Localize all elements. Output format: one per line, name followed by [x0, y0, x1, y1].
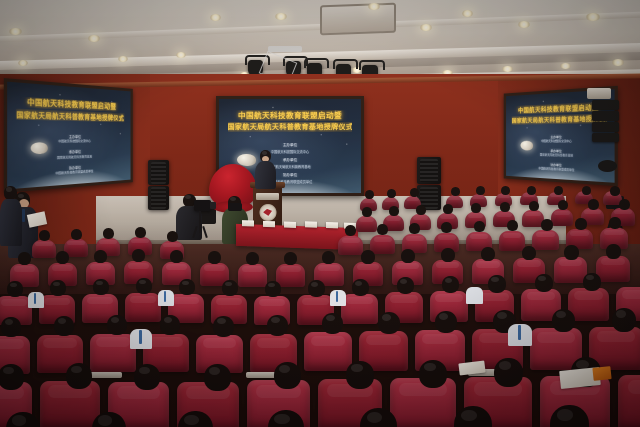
attendee-head	[588, 199, 599, 210]
attendee-head	[410, 188, 419, 197]
attendee-head	[471, 203, 481, 213]
attendee-shirt	[28, 292, 44, 308]
attendee-head	[582, 186, 591, 195]
downlight	[502, 66, 513, 72]
seat[interactable]	[304, 332, 352, 371]
seat[interactable]	[596, 256, 630, 282]
attendee-head	[345, 225, 356, 236]
attendee-head	[575, 218, 587, 230]
attendee-head	[558, 200, 568, 210]
attendee-head	[583, 273, 601, 291]
slide-block1-body: 中国航天科技国际交流中心	[219, 149, 361, 154]
attendee-head	[265, 281, 281, 297]
seat[interactable]	[554, 257, 587, 283]
downlight	[420, 24, 432, 31]
seat[interactable]	[40, 381, 100, 427]
seat[interactable]	[370, 235, 395, 254]
attendee-head	[401, 249, 415, 263]
screen-left-surface: 中国航天科技教育联盟启动暨 国家航天局航天科普教育基地授牌仪式 主办单位 中国航…	[7, 82, 130, 190]
attendee-head	[50, 280, 66, 296]
attendee-head	[474, 221, 485, 232]
downlight	[612, 59, 624, 66]
line-array-speaker-right	[592, 100, 619, 146]
attendee-shirt	[330, 290, 346, 306]
attendee-head	[136, 278, 152, 294]
seat[interactable]	[618, 375, 640, 427]
attendee-head	[409, 223, 420, 234]
attendee-head	[535, 274, 553, 292]
lanyard	[518, 325, 521, 340]
attendee-shirt	[466, 287, 483, 304]
attendee-head	[160, 315, 180, 335]
seat[interactable]	[551, 209, 573, 226]
attendee-shirt	[158, 290, 174, 306]
attendee-head	[322, 251, 335, 264]
attendee-head	[564, 245, 579, 260]
seat[interactable]	[356, 216, 377, 232]
attendee-head	[552, 309, 575, 332]
attendee-head	[204, 364, 231, 391]
slide-block1-heading: 主办单位	[7, 133, 130, 139]
attendee-head	[222, 280, 238, 296]
lanyard	[164, 291, 166, 302]
attendee-head	[522, 246, 536, 260]
attendee-head	[246, 252, 259, 265]
attendee-head	[107, 315, 127, 335]
downlight	[586, 13, 600, 21]
attendee-head	[527, 186, 536, 195]
attendee-head	[1, 317, 21, 337]
downlight	[462, 10, 473, 17]
attendee-head	[378, 312, 400, 334]
attendee-head	[441, 248, 455, 262]
attendee-head	[54, 316, 74, 336]
seat[interactable]	[341, 294, 378, 324]
attendee-head	[606, 244, 621, 259]
attendee-head	[103, 228, 114, 239]
slide-block1-heading: 主办单位	[219, 143, 361, 148]
attendee-head	[541, 219, 553, 231]
downlight	[368, 3, 380, 10]
seat[interactable]	[532, 230, 559, 250]
attendee-head	[322, 313, 343, 334]
auditorium-scene-photo: 中国航天科技教育联盟启动暨 国家航天局航天科普教育基地授牌仪式 主办单位 中国航…	[0, 0, 640, 427]
seat[interactable]	[499, 231, 525, 251]
downlight	[118, 56, 128, 62]
attendee-head	[365, 190, 374, 199]
attendee-head	[66, 363, 92, 389]
lanyard	[34, 293, 36, 304]
downlight	[9, 28, 22, 35]
attendee-head	[39, 230, 50, 241]
attendee-head	[529, 201, 539, 211]
attendee-head	[441, 222, 452, 233]
attendee-head	[352, 279, 369, 296]
attendee-head	[494, 358, 523, 387]
downlight	[176, 52, 186, 58]
attendee-head	[135, 227, 146, 238]
slide-title-line1: 中国航天科技教育联盟启动暨	[228, 110, 353, 121]
slide-block2-heading: 承办单位	[219, 158, 361, 163]
attendee-head	[274, 362, 301, 389]
attendee-head	[132, 249, 145, 262]
attendee-head	[94, 250, 107, 263]
downlight	[88, 35, 100, 42]
attendee-head	[435, 311, 457, 333]
attendee-head	[609, 217, 621, 229]
attendee-head	[507, 220, 518, 231]
audience-section	[0, 186, 640, 427]
attendee-head	[71, 229, 82, 240]
attendee-head	[213, 316, 234, 337]
attendee-head	[481, 247, 495, 261]
downlight	[560, 63, 571, 69]
downlight	[518, 21, 530, 28]
attendee-head	[308, 280, 325, 297]
attendee-head	[377, 224, 388, 235]
attendee-head	[419, 360, 447, 388]
attendee-head	[56, 251, 69, 264]
attendee-head	[500, 202, 510, 212]
attendee-head	[397, 277, 414, 294]
attendee-head	[267, 315, 288, 336]
attendee-head	[416, 205, 426, 215]
projector-icon	[587, 88, 611, 99]
attendee-head	[361, 250, 375, 264]
speaker-stack-center	[417, 157, 441, 184]
attendee-head	[7, 281, 23, 297]
attendee-head	[619, 199, 630, 210]
projection-screen-left: 中国航天科技教育联盟启动暨 国家航天局航天科普教育基地授牌仪式 主办单位 中国航…	[4, 78, 133, 193]
attendee-head	[167, 231, 178, 242]
booklet-cover-orange	[592, 366, 611, 381]
seat[interactable]	[32, 240, 56, 258]
wall-monitor-speaker-icon	[598, 160, 617, 172]
seat[interactable]	[338, 236, 363, 255]
attendee-head	[610, 186, 620, 196]
speaker-torso	[255, 161, 276, 189]
attendee-head	[443, 204, 453, 214]
speaker-stack-left-top	[148, 160, 169, 185]
downlight	[210, 14, 221, 21]
attendee-head	[442, 276, 459, 293]
attendee-head	[208, 251, 221, 264]
attendee-head	[0, 364, 24, 390]
slide-title-line2: 国家航天局航天科普教育基地授牌仪式	[228, 122, 353, 132]
lanyard	[139, 330, 142, 344]
stage-speaker	[254, 150, 276, 190]
seat[interactable]	[238, 264, 267, 287]
seat[interactable]	[276, 264, 305, 287]
downlight	[275, 13, 287, 20]
lanyard	[336, 291, 338, 302]
attendee-head	[170, 250, 183, 263]
attendee-head	[362, 207, 372, 217]
attendee-head	[612, 308, 636, 332]
attendee-head	[93, 279, 109, 295]
attendee-head	[134, 364, 160, 390]
attendee-head	[389, 206, 399, 216]
attendee-head	[179, 279, 195, 295]
attendee-head	[451, 187, 460, 196]
attendee-head	[387, 189, 396, 198]
attendee-head	[488, 275, 506, 293]
attendee-head	[554, 186, 563, 195]
attendee-head	[501, 186, 510, 195]
downlight	[18, 60, 28, 66]
desk-flap[interactable]	[88, 372, 122, 378]
attendee-head	[18, 252, 31, 265]
attendee-head	[476, 186, 485, 195]
attendee-head	[346, 361, 374, 389]
attendee-head	[284, 252, 297, 265]
ac-vent-icon	[320, 3, 396, 36]
ceiling-truss-hub	[268, 46, 302, 52]
seat[interactable]	[125, 293, 161, 322]
